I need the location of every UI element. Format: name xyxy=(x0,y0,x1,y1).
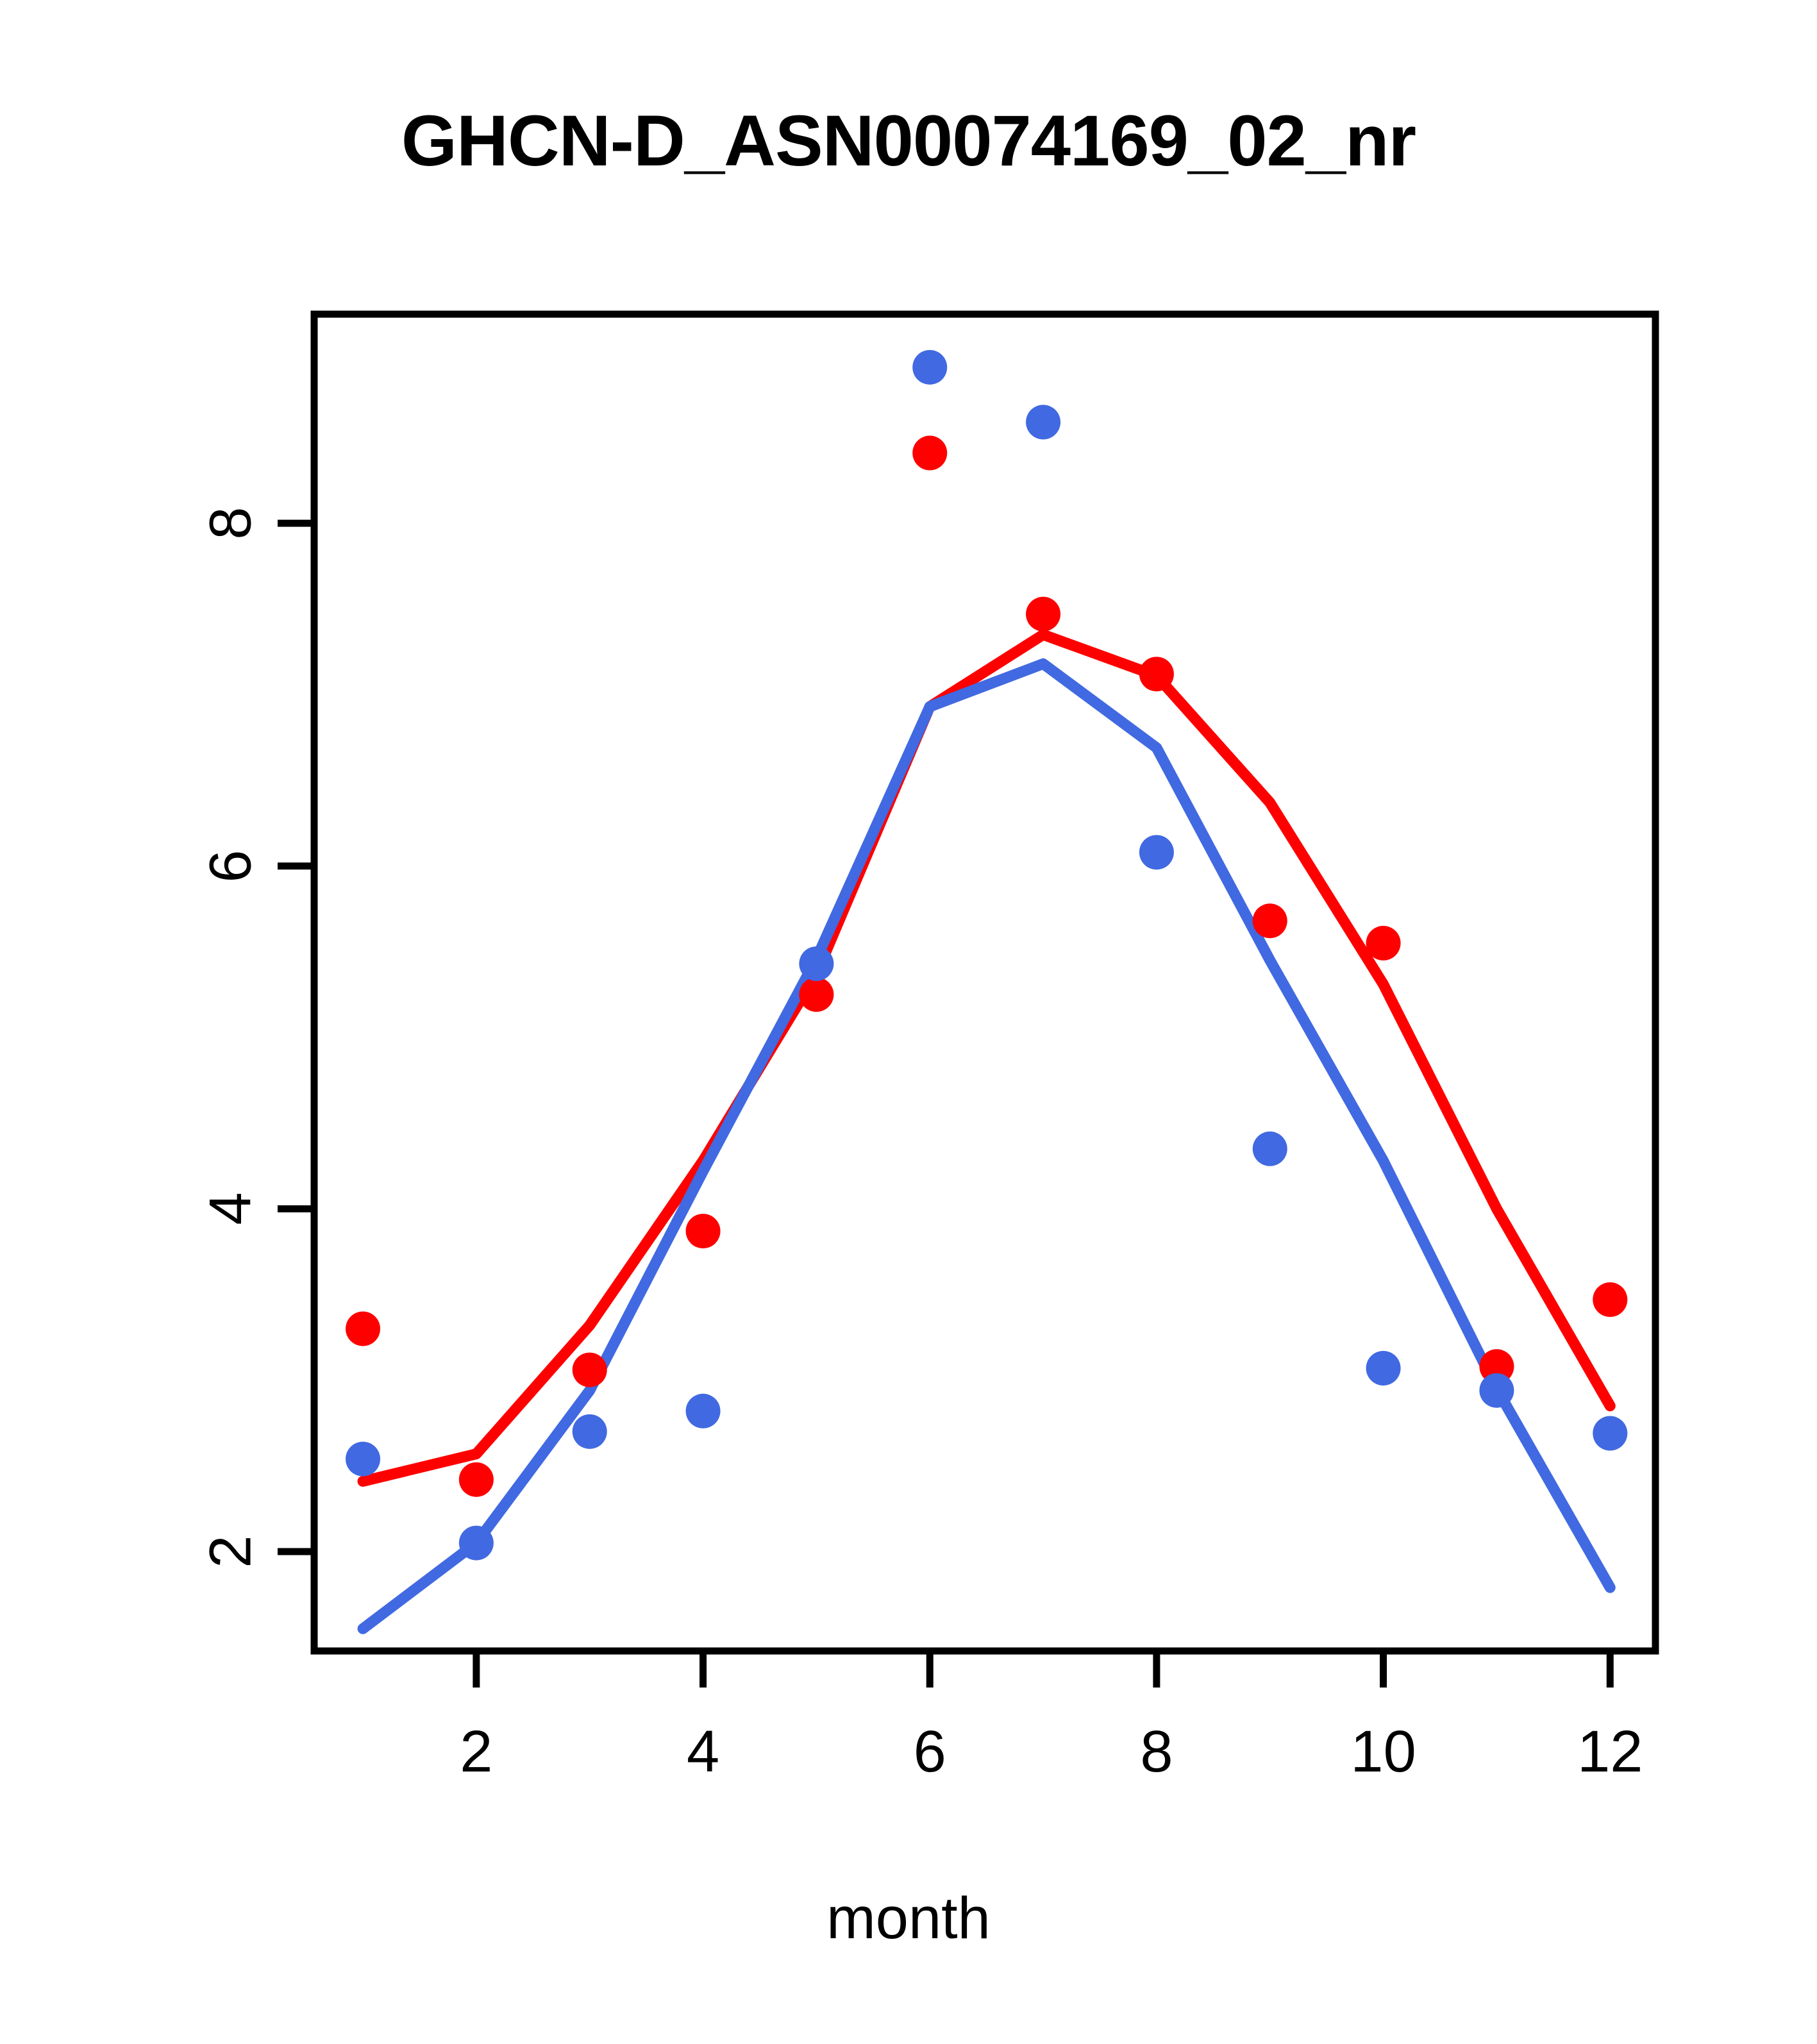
data-point xyxy=(346,1442,380,1477)
y-tick-label: 4 xyxy=(197,1193,265,1225)
data-point xyxy=(459,1526,494,1561)
y-tick-label: 2 xyxy=(197,1535,265,1568)
data-point xyxy=(1479,1373,1514,1408)
series-line-blue-line xyxy=(363,664,1610,1629)
data-series-layer xyxy=(346,350,1627,1629)
data-point xyxy=(573,1414,607,1449)
data-point xyxy=(1026,597,1060,632)
x-tick-label: 12 xyxy=(1577,1718,1643,1786)
data-point xyxy=(799,977,833,1012)
plot-frame xyxy=(314,314,1655,1651)
data-point xyxy=(912,436,947,471)
data-point xyxy=(799,946,833,981)
data-point xyxy=(1253,903,1287,938)
plot-area xyxy=(0,0,1817,2044)
y-tick-label: 8 xyxy=(197,507,265,540)
y-axis-ticks xyxy=(278,523,314,1552)
data-point xyxy=(912,350,947,385)
x-tick-label: 6 xyxy=(914,1718,946,1786)
data-point xyxy=(1026,405,1060,439)
x-tick-label: 8 xyxy=(1140,1718,1173,1786)
series-line-red-line xyxy=(363,635,1610,1482)
x-tick-label: 10 xyxy=(1350,1718,1416,1786)
data-point xyxy=(686,1394,721,1428)
data-point xyxy=(686,1214,721,1248)
data-point xyxy=(1593,1282,1627,1317)
data-point xyxy=(1253,1132,1287,1166)
chart-canvas: GHCN-D_ASN00074169_02_nr 2468 24681012 m… xyxy=(0,0,1817,2044)
data-point xyxy=(573,1353,607,1387)
data-point xyxy=(1366,1351,1401,1386)
x-axis-ticks xyxy=(476,1651,1610,1688)
x-tick-label: 2 xyxy=(460,1718,492,1786)
data-point xyxy=(346,1311,380,1346)
data-point xyxy=(1366,926,1401,960)
x-axis-label: month xyxy=(0,1885,1817,1952)
data-point xyxy=(1139,657,1174,691)
data-point xyxy=(1593,1416,1627,1451)
y-tick-label: 6 xyxy=(197,850,265,882)
data-point xyxy=(459,1462,494,1497)
data-point xyxy=(1139,835,1174,869)
x-tick-label: 4 xyxy=(687,1718,719,1786)
